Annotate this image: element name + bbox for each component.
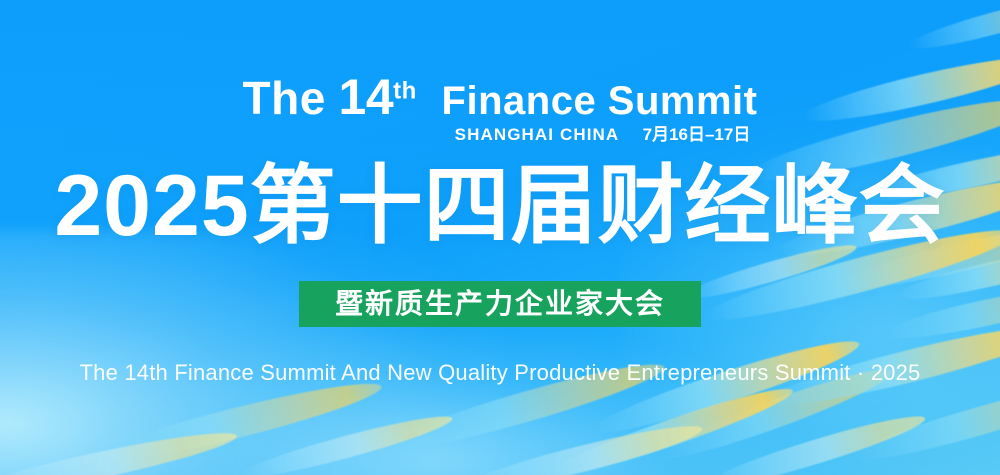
ribbon-container: 暨新质生产力企业家大会: [0, 281, 1000, 327]
headline-ordinal-suffix: th: [393, 77, 417, 104]
english-strapline: The 14th Finance Summit And New Quality …: [0, 360, 1000, 386]
header-subline: SHANGHAI CHINA 7月16日–17日: [0, 126, 1000, 143]
subtitle-ribbon: 暨新质生产力企业家大会: [299, 281, 701, 327]
event-headline: The 14th Finance Summit: [243, 72, 758, 122]
event-poster: The 14th Finance Summit SHANGHAI CHINA 7…: [0, 0, 1000, 475]
headline-edition-number: 14: [339, 69, 394, 125]
headline-event-name: Finance Summit: [442, 79, 758, 123]
headline-the: The: [243, 72, 326, 124]
main-title: 2025第十四届财经峰会: [0, 163, 1000, 249]
header-block: The 14th Finance Summit SHANGHAI CHINA 7…: [0, 72, 1000, 143]
event-date: 7月16日–17日: [643, 125, 751, 144]
event-city: SHANGHAI CHINA: [455, 125, 620, 144]
